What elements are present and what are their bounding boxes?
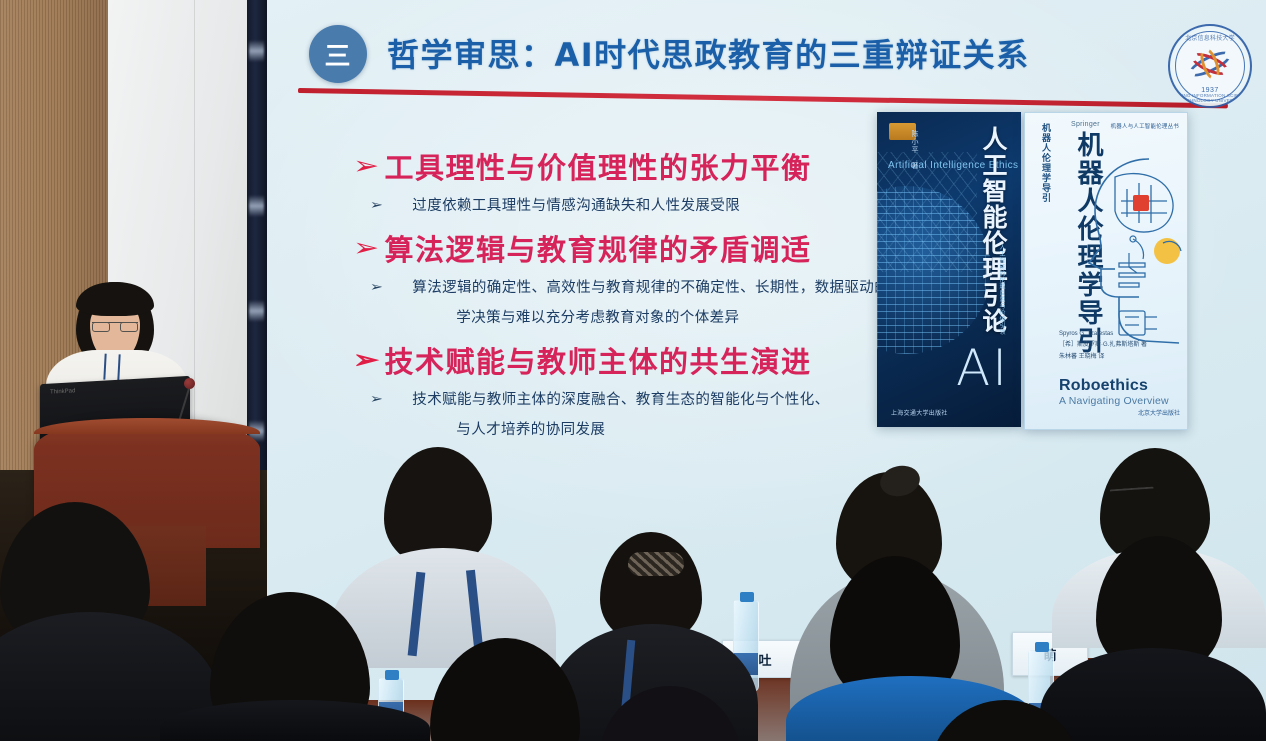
subtext-line: 过度依赖工具理性与情感沟通缺失和人性发展受限 (412, 192, 740, 222)
book1-tagline: 人工智能的伦理反思与价值引领 (995, 244, 1007, 335)
block-heading: ➢ 算法逻辑与教育规律的矛盾调适 (353, 232, 873, 268)
block-heading: ➢ 技术赋能与教师主体的共生演进 (353, 344, 873, 380)
springer-imprint-logo: Springer (1071, 121, 1100, 128)
book2-series: 机器人与人工智能伦理丛书 (1111, 122, 1179, 130)
subtext-line: 学决策与难以充分考虑教育对象的个体差异 (412, 304, 904, 334)
slide-content-blocks: ➢ 工具理性与价值理性的张力平衡 ➢ 过度依赖工具理性与情感沟通缺失和人性发展受… (353, 150, 873, 455)
book2-subtitle-en: A Navigating Overview (1059, 395, 1169, 407)
book2-author-en: Spyros G. Tzafestas (1059, 329, 1147, 340)
book2-authors: Spyros G. Tzafestas ［希］斯皮罗斯·G.扎弗斯塔斯 著 朱林… (1059, 329, 1147, 363)
title-underline-rule (298, 88, 1228, 108)
sub-arrow-bullet-icon: ➢ (370, 386, 384, 415)
presenter-lanyard (103, 354, 120, 381)
seal-name-cn: 北京信息科技大学 (1170, 33, 1250, 42)
lecture-hall-scene: 三 哲学审思：AI时代思政教育的三重辩证关系 北京信息科技大学 1937 BEI… (0, 0, 1266, 741)
arrow-bullet-icon: ➢ (353, 232, 381, 265)
content-block: ➢ 算法逻辑与教育规律的矛盾调适 ➢ 算法逻辑的确定性、高效性与教育规律的不确定… (353, 232, 873, 334)
arrow-bullet-icon: ➢ (353, 344, 381, 377)
block-subtext: ➢ 技术赋能与教师主体的深度融合、教育生态的智能化与个性化、 与人才培养的协同发… (353, 386, 873, 445)
section-number-badge: 三 (309, 25, 367, 83)
content-block: ➢ 工具理性与价值理性的张力平衡 ➢ 过度依赖工具理性与情感沟通缺失和人性发展受… (353, 150, 873, 222)
book1-publisher: 上海交通大学出版社 (891, 408, 948, 417)
university-seal-logo: 北京信息科技大学 1937 BEIJING INFORMATION SCIENC… (1168, 24, 1252, 108)
sub-arrow-bullet-icon: ➢ (370, 192, 384, 221)
book-cover-ai-ethics: Artificial Intelligence Ethics 陈小平 著 人工智… (877, 112, 1021, 427)
sub-arrow-bullet-icon: ➢ (370, 274, 384, 303)
subtext-line: 技术赋能与教师主体的深度融合、教育生态的智能化与个性化、 (412, 386, 829, 416)
section-number-text: 三 (324, 36, 351, 73)
seal-name-en: BEIJING INFORMATION SCIENCE & TECHNOLOGY… (1170, 93, 1250, 103)
book1-big-text: AI (956, 343, 1009, 393)
book-cover-roboethics: Springer 机器人与人工智能伦理丛书 机器人伦理学导引 机器人伦理学导引 (1024, 112, 1188, 430)
book2-title-en-group: Roboethics A Navigating Overview (1059, 377, 1169, 407)
block-subtext: ➢ 过度依赖工具理性与情感沟通缺失和人性发展受限 (353, 192, 873, 222)
hair-clip (628, 552, 684, 576)
robot-head-illustration (1071, 143, 1183, 358)
subtext-line: 与人才培养的协同发展 (412, 416, 829, 446)
presenter-glasses-icon (92, 322, 138, 332)
book2-translator: 朱林蕃 王晓梅 译 (1059, 352, 1147, 363)
arrow-bullet-icon: ➢ (353, 150, 381, 183)
block-heading-text: 技术赋能与教师主体的共生演进 (384, 344, 811, 380)
book1-author: 陈小平 著 (909, 130, 919, 170)
presenter-fringe (76, 282, 154, 316)
book2-publisher: 北京大学出版社 (1138, 408, 1180, 417)
seal-swirl-emblem (1187, 47, 1233, 81)
slide-title: 哲学审思：AI时代思政教育的三重辩证关系 (387, 30, 1030, 76)
book2-title-en: Roboethics (1059, 377, 1169, 395)
microphone-head-icon (184, 378, 195, 389)
content-block: ➢ 技术赋能与教师主体的共生演进 ➢ 技术赋能与教师主体的深度融合、教育生态的智… (353, 344, 873, 446)
subtext-line: 算法逻辑的确定性、高效性与教育规律的不确定性、长期性，数据驱动的教 (412, 274, 904, 304)
block-subtext: ➢ 算法逻辑的确定性、高效性与教育规律的不确定性、长期性，数据驱动的教 学决策与… (353, 274, 873, 333)
block-heading-text: 工具理性与价值理性的张力平衡 (384, 150, 811, 186)
block-heading-text: 算法逻辑与教育规律的矛盾调适 (384, 232, 811, 268)
block-heading: ➢ 工具理性与价值理性的张力平衡 (353, 150, 873, 186)
name-card-text: 吐 (758, 650, 771, 669)
book2-author-cn: ［希］斯皮罗斯·G.扎弗斯塔斯 著 (1059, 340, 1147, 351)
book2-spine-title: 机器人伦理学导引 (1029, 123, 1053, 378)
